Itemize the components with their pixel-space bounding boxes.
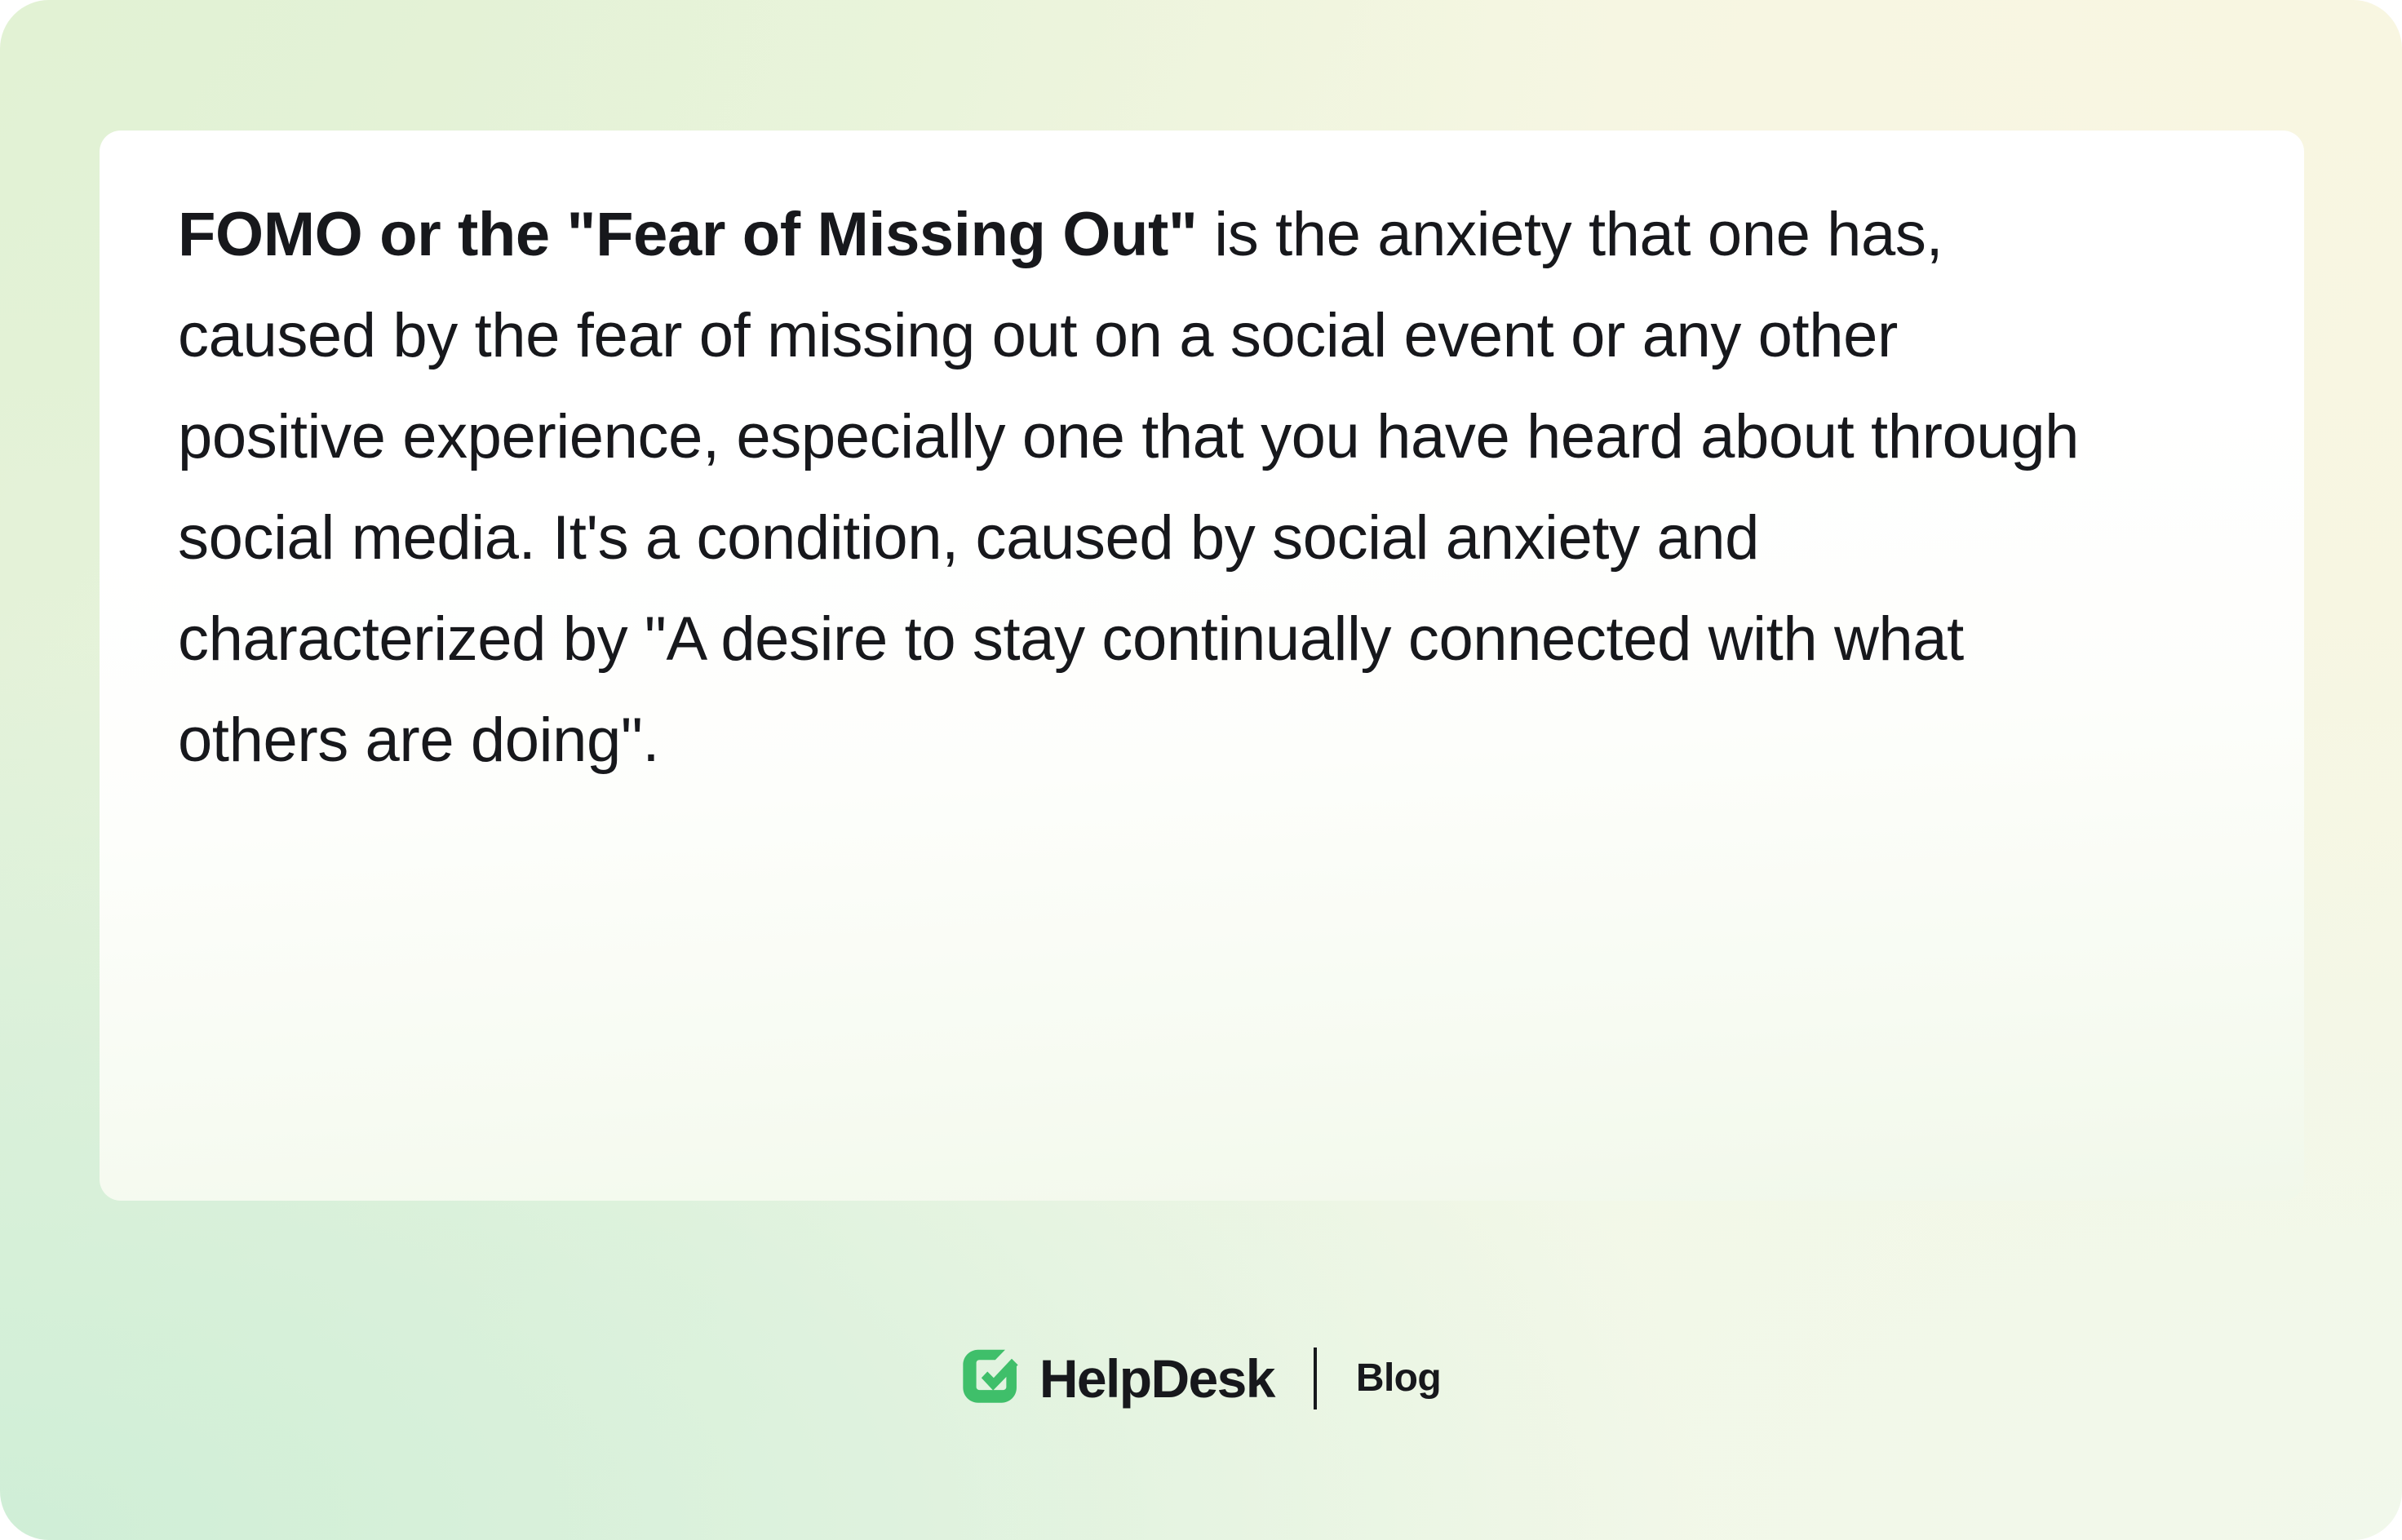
- definition-body: is the anxiety that one has, caused by t…: [178, 200, 2079, 775]
- blog-label[interactable]: Blog: [1356, 1359, 1441, 1398]
- helpdesk-wordmark: HelpDesk: [1039, 1352, 1274, 1405]
- helpdesk-brand[interactable]: HelpDesk: [961, 1348, 1274, 1409]
- checkbox-check-icon: [961, 1348, 1022, 1409]
- poster-canvas: FOMO or the "Fear of Missing Out" is the…: [0, 0, 2402, 1540]
- definition-paragraph: FOMO or the "Fear of Missing Out" is the…: [178, 184, 2103, 791]
- quote-card: FOMO or the "Fear of Missing Out" is the…: [100, 131, 2304, 1201]
- definition-term: FOMO or the "Fear of Missing Out": [178, 200, 1198, 269]
- brand-divider: [1314, 1347, 1317, 1409]
- footer-brand-bar: HelpDesk Blog: [0, 1325, 2402, 1432]
